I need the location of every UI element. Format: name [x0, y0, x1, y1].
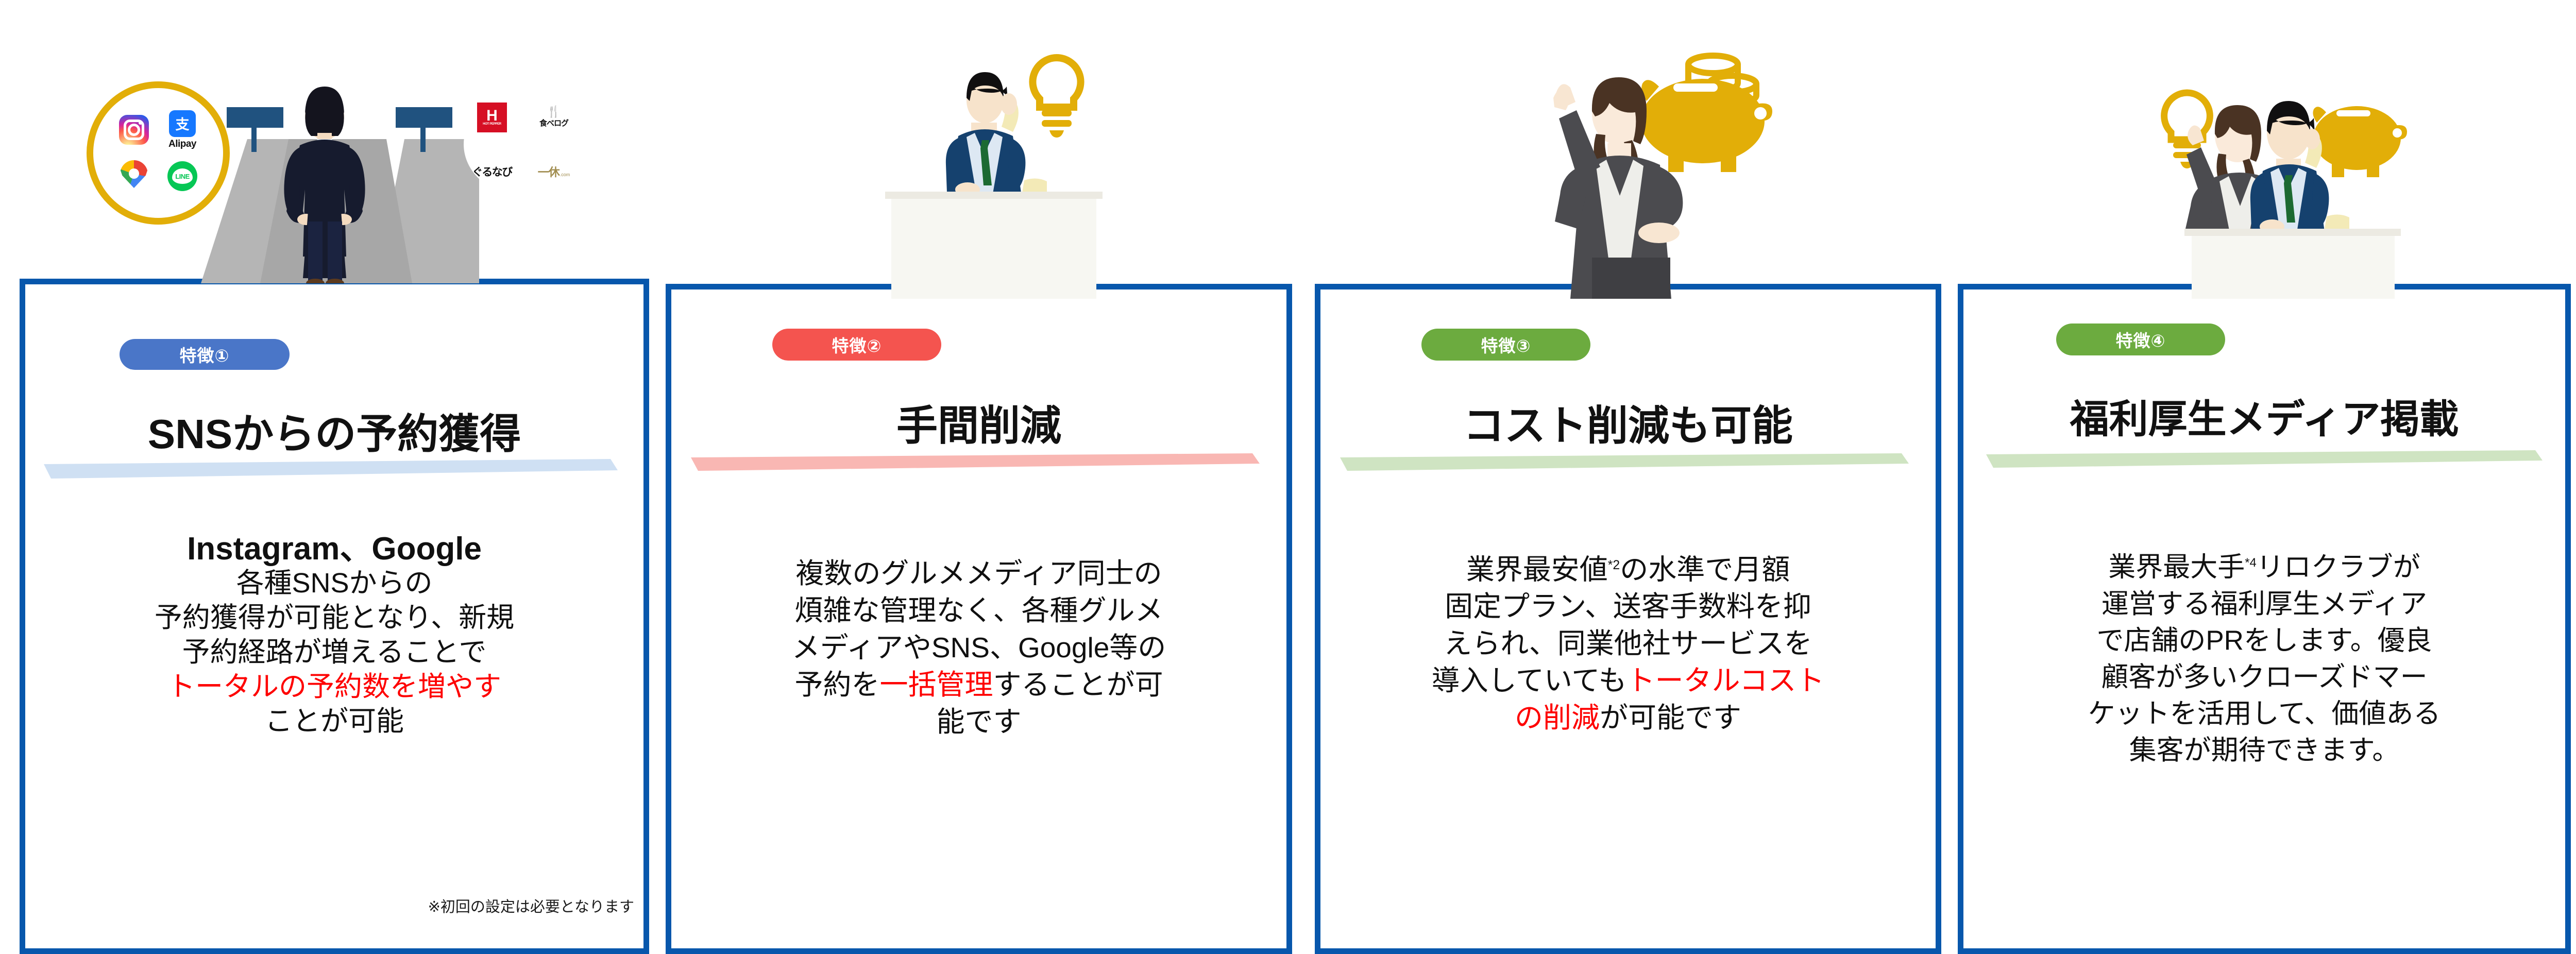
google-maps-icon [120, 160, 148, 192]
hotpepper-icon: H HOT PEPPER [477, 103, 507, 132]
badge-label: 特徴② [832, 332, 882, 357]
body-line: 業界最安値*2の水準で月額 [1320, 547, 1936, 588]
body-line: 能です [671, 703, 1286, 740]
sns-logo-circle: 支 Alipay LINE [87, 81, 230, 225]
badge-label: 特徴④ [2116, 327, 2166, 352]
badge-feature-3: 特徴③ [1421, 329, 1590, 361]
card-4-body: 業界最大手*4リロクラブが 運営する福利厚生メディア で店舗のPRをします。優良… [1963, 544, 2565, 769]
alipay-label: Alipay [168, 139, 196, 150]
body-line: Instagram、Google [25, 532, 643, 566]
badge-label: 特徴③ [1481, 332, 1531, 357]
body-line: ケットを活用して、価値ある [1963, 695, 2565, 732]
body-line: 予約を一括管理することが可 [671, 666, 1286, 703]
body-seg: 業界最安値 [1466, 553, 1608, 585]
body-seg: リロクラブが [2257, 552, 2420, 583]
feature-card-4: 特徴④ 福利厚生メディア掲載 業界最大手*4リロクラブが 運営する福利厚生メディ… [1958, 284, 2571, 954]
body-line-highlight: トータルの予約数を増やす [25, 670, 643, 704]
footnote-marker: *4 [2245, 556, 2257, 570]
ikyu-icon: 一休 .com [538, 163, 570, 180]
card-1-accent-ribbon [44, 459, 618, 479]
hotpepper-label: HOT PEPPER [483, 123, 501, 126]
slide-canvas: 支 Alipay LINE H HOT PEPPER 🍴 食べログ ぐるなび 一… [0, 0, 2576, 954]
body-seg-highlight: の削減 [1515, 702, 1600, 734]
ikyu-suffix: .com [560, 172, 570, 177]
body-line: えられ、同業他社サービスを [1320, 625, 1936, 662]
badge-feature-1: 特徴① [120, 339, 290, 370]
body-seg-highlight: 一括管理 [879, 669, 993, 701]
gourmet-media-logo-group: H HOT PEPPER 🍴 食べログ ぐるなび 一休 .com [464, 93, 582, 196]
card-3-body: 業界最安値*2の水準で月額 固定プラン、送客手数料を抑 えられ、同業他社サービス… [1320, 547, 1936, 736]
body-line: 複数のグルメメディア同士の [671, 555, 1286, 592]
footnote-marker: *2 [1608, 558, 1620, 572]
body-line: ことが可能 [25, 704, 643, 739]
body-seg: 業界最大手 [2108, 552, 2245, 583]
body-line: 固定プラン、送客手数料を抑 [1320, 588, 1936, 625]
card-4-accent-ribbon [1986, 450, 2543, 468]
card-1-footnote: ※初回の設定は必要となります [428, 895, 634, 916]
body-seg: 予約を [794, 669, 879, 701]
body-line: で店舗のPRをします。優良 [1963, 622, 2565, 659]
instagram-icon [119, 115, 149, 145]
body-seg: することが可 [993, 669, 1163, 701]
card-3-heading: コスト削減も可能 [1320, 393, 1936, 452]
body-line: 予約経路が増えることで [25, 635, 643, 670]
body-line: メディアやSNS、Google等の [671, 629, 1286, 666]
body-seg: の水準で月額 [1620, 553, 1790, 585]
body-seg-highlight: トータルコスト [1627, 665, 1825, 696]
lightbulb-icon [1032, 58, 1080, 138]
feature-card-1: 特徴① SNSからの予約獲得 Instagram、Google 各種SNSからの… [20, 279, 649, 954]
line-icon: LINE [167, 161, 197, 191]
illustration-team-lightbulb-piggybank [2154, 10, 2421, 299]
card-2-heading: 手間削減 [671, 393, 1286, 452]
illustration-woman-piggybank [1504, 10, 1772, 299]
card-2-accent-ribbon [691, 453, 1260, 471]
badge-label: 特徴① [180, 342, 230, 367]
piggy-bank-icon [1641, 79, 1772, 172]
badge-feature-4: 特徴④ [2056, 323, 2225, 355]
body-seg: 導入していても [1432, 665, 1627, 696]
body-line: 導入していてもトータルコスト [1320, 662, 1936, 699]
line-label: LINE [172, 168, 193, 184]
tabelog-label: 食べログ [539, 117, 568, 128]
body-seg: が可能です [1600, 702, 1741, 734]
body-line: 煩雑な管理なく、各種グルメ [671, 592, 1286, 629]
body-line: の削減が可能です [1320, 699, 1936, 736]
tabelog-icon: 🍴 食べログ [539, 106, 568, 128]
body-line: 顧客が多いクローズドマー [1963, 659, 2565, 695]
body-line: 各種SNSからの [25, 566, 643, 601]
body-line: 運営する福利厚生メディア [1963, 586, 2565, 622]
card-1-heading: SNSからの予約獲得 [25, 401, 643, 461]
badge-feature-2: 特徴② [772, 329, 941, 361]
body-line: 業界最大手*4リロクラブが [1963, 544, 2565, 586]
body-line: 予約獲得が可能となり、新規 [25, 601, 643, 635]
feature-card-3: 特徴③ コスト削減も可能 業界最安値*2の水準で月額 固定プラン、送客手数料を抑… [1315, 284, 1941, 954]
card-1-body: Instagram、Google 各種SNSからの 予約獲得が可能となり、新規 … [25, 532, 643, 739]
piggy-bank-icon [2313, 106, 2407, 177]
ikyu-label: 一休 [538, 163, 560, 180]
card-2-body: 複数のグルメメディア同士の 煩雑な管理なく、各種グルメ メディアやSNS、Goo… [671, 555, 1286, 740]
gurunavi-icon: ぐるなび [472, 164, 512, 179]
card-3-accent-ribbon [1340, 453, 1909, 471]
feature-card-2: 特徴② 手間削減 複数のグルメメディア同士の 煩雑な管理なく、各種グルメ メディ… [666, 284, 1292, 954]
body-line: 集客が期待できます。 [1963, 732, 2565, 769]
card-4-heading: 福利厚生メディア掲載 [1963, 387, 2565, 444]
illustration-phone-lightbulb [876, 10, 1118, 299]
alipay-icon: 支 Alipay [168, 110, 196, 150]
